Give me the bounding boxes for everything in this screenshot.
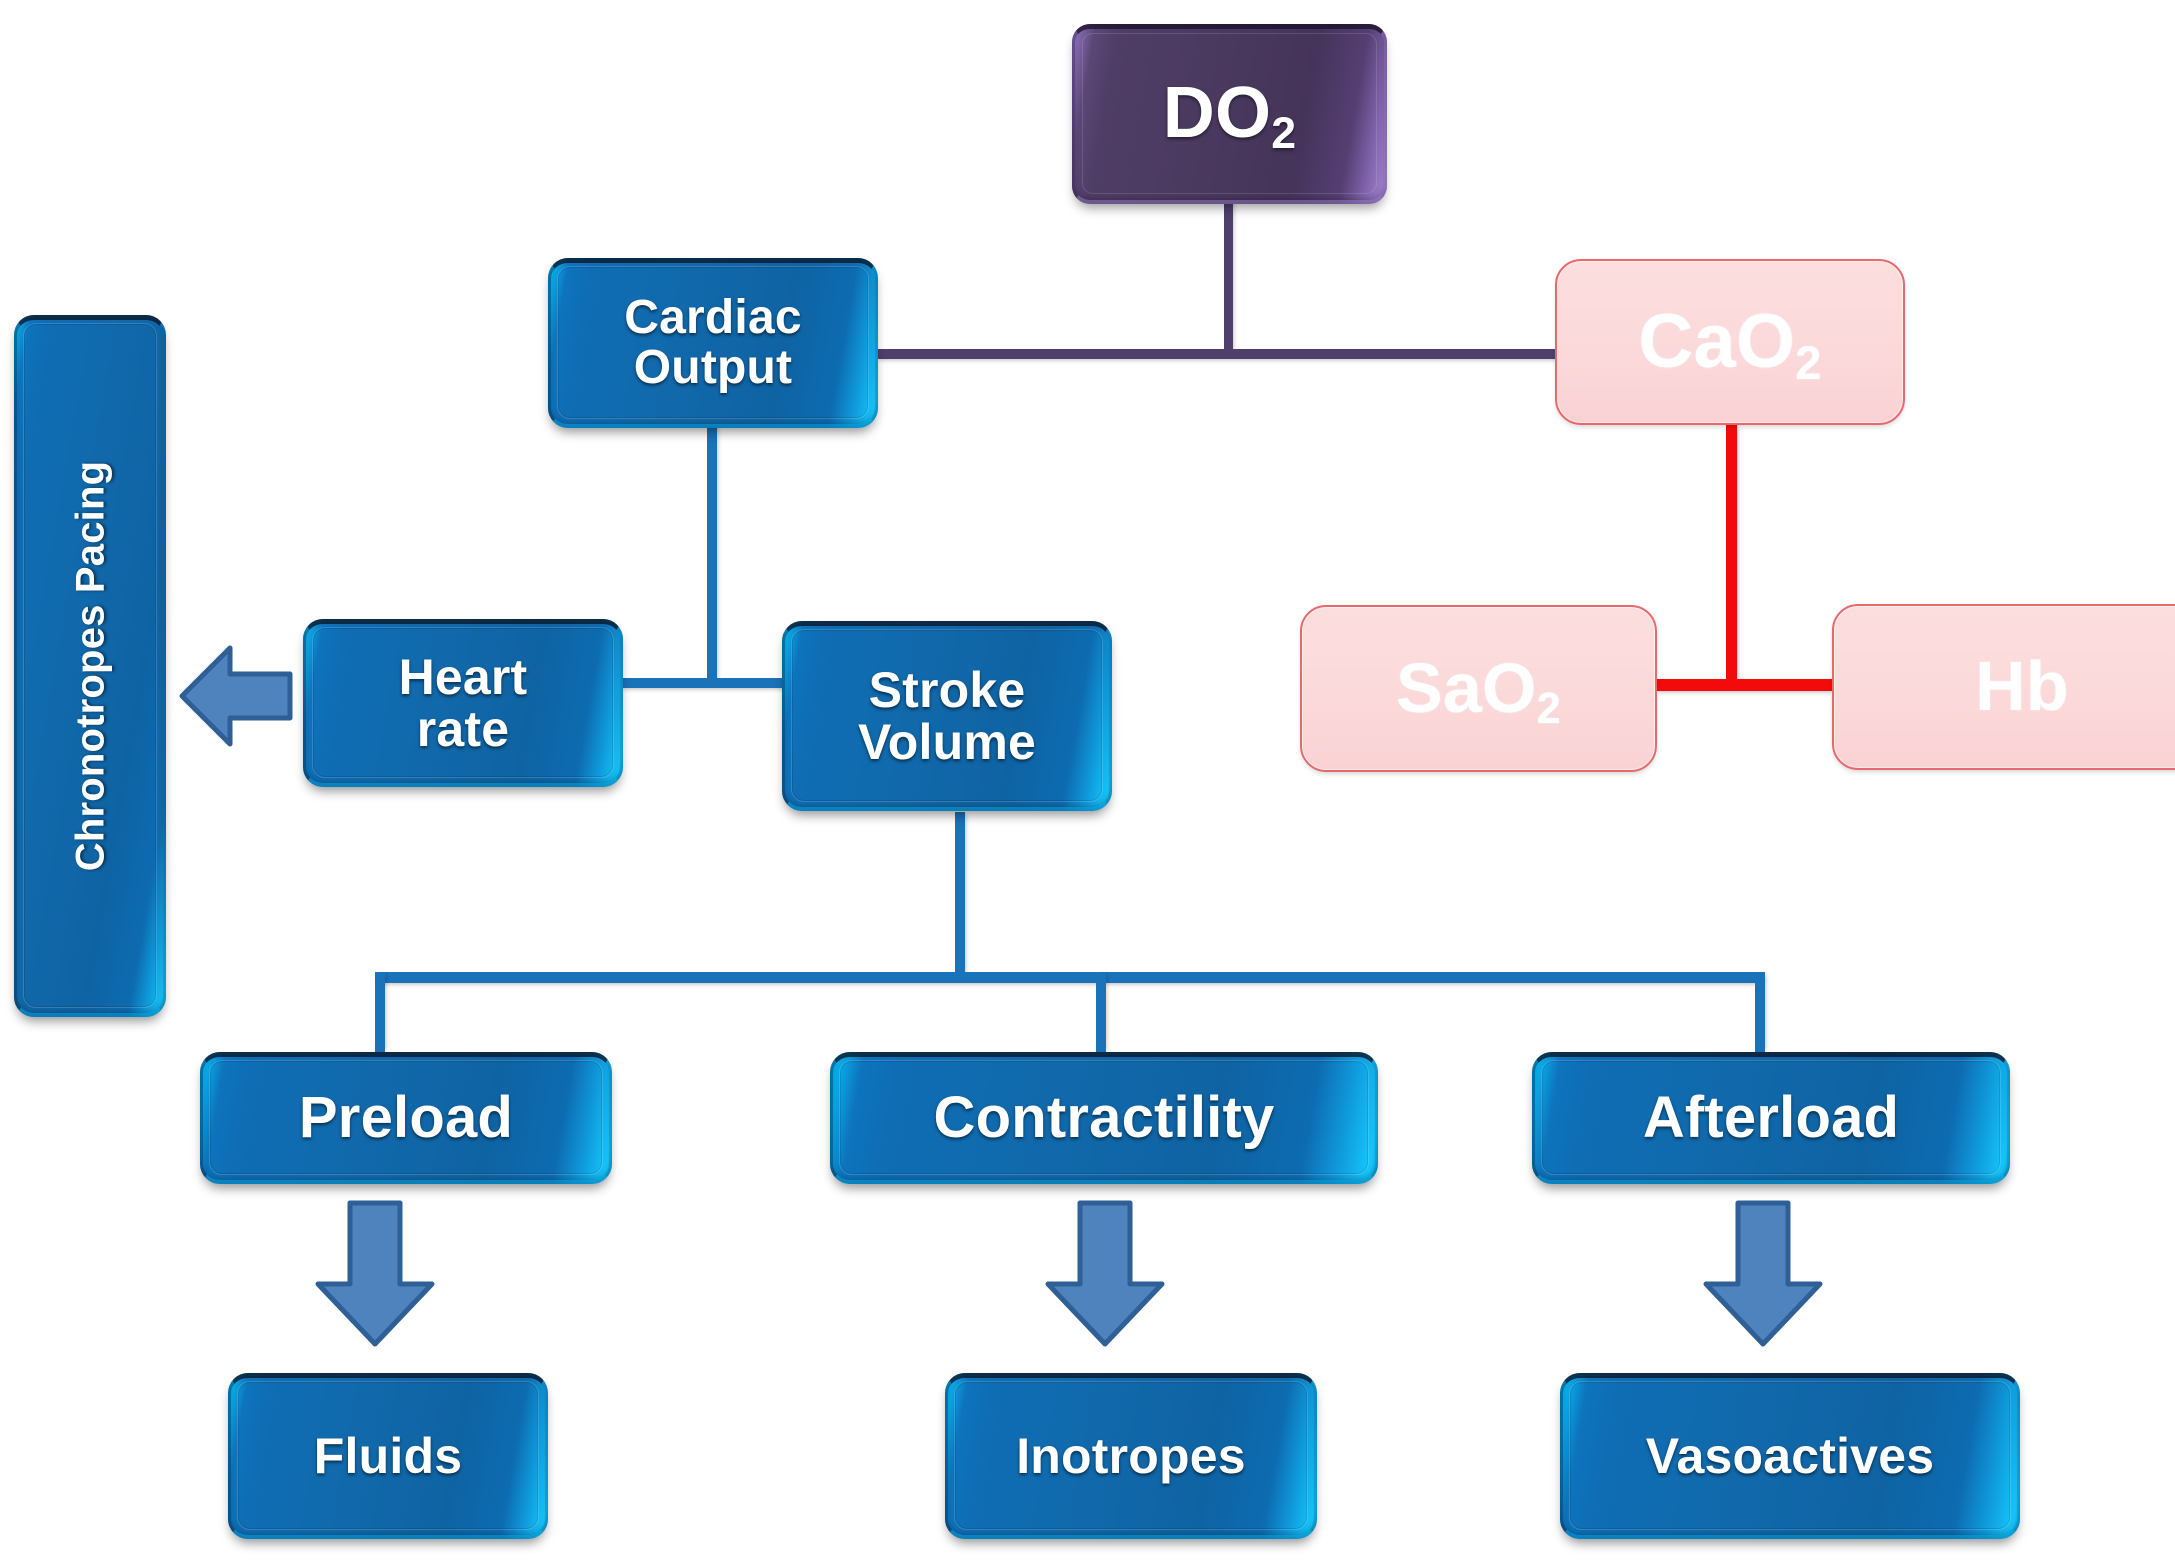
node-sao2[interactable]: SaO2 xyxy=(1300,605,1657,772)
node-chronotropes-pacing[interactable]: Chronotropes Pacing xyxy=(14,315,166,1017)
node-cardiac-output[interactable]: Cardiac Output xyxy=(548,258,878,428)
node-sao2-label: SaO2 xyxy=(1396,652,1561,726)
node-fluids-label: Fluids xyxy=(314,1430,462,1483)
node-cardiac-output-label-line2: Output xyxy=(634,343,792,393)
connector-hr-sv-bus xyxy=(620,678,805,688)
node-hb[interactable]: Hb xyxy=(1832,604,2175,770)
connector-do2-stem xyxy=(1224,196,1233,356)
node-vasoactives-label: Vasoactives xyxy=(1646,1430,1935,1483)
node-stroke-volume[interactable]: Stroke Volume xyxy=(782,621,1112,811)
arrow-contractility-to-inotropes xyxy=(1040,1198,1170,1348)
node-cao2[interactable]: CaO2 xyxy=(1555,259,1905,425)
node-afterload-label: Afterload xyxy=(1643,1088,1899,1149)
connector-cao2-stem xyxy=(1726,425,1737,685)
connector-purple-bus xyxy=(876,349,1566,359)
connector-drop-preload xyxy=(375,972,385,1052)
node-contractility-label: Contractility xyxy=(934,1088,1275,1149)
connector-drop-contractility xyxy=(1096,972,1106,1052)
arrow-preload-to-fluids xyxy=(310,1198,440,1348)
node-cardiac-output-label-line1: Cardiac xyxy=(624,293,802,343)
connector-drop-afterload xyxy=(1755,972,1765,1052)
diagram-canvas: DO2 Cardiac Output CaO2 SaO2 Hb Chronotr… xyxy=(0,0,2175,1566)
node-fluids[interactable]: Fluids xyxy=(228,1373,548,1539)
node-stroke-volume-label-line1: Stroke xyxy=(869,664,1026,717)
node-chronotropes-pacing-label: Chronotropes Pacing xyxy=(69,461,111,872)
connector-sao2-hb-bus xyxy=(1655,679,1835,691)
node-afterload[interactable]: Afterload xyxy=(1532,1052,2010,1184)
node-contractility[interactable]: Contractility xyxy=(830,1052,1378,1184)
node-vasoactives[interactable]: Vasoactives xyxy=(1560,1373,2020,1539)
node-preload[interactable]: Preload xyxy=(200,1052,612,1184)
node-preload-label: Preload xyxy=(299,1088,513,1149)
node-do2[interactable]: DO2 xyxy=(1072,24,1387,204)
node-heart-rate[interactable]: Heart rate xyxy=(303,619,623,787)
node-do2-label: DO2 xyxy=(1163,76,1296,152)
connector-cardiac-output-stem xyxy=(707,424,717,686)
arrow-afterload-to-vasoactives xyxy=(1698,1198,1828,1348)
node-heart-rate-label-line1: Heart xyxy=(399,651,528,704)
connector-stroke-volume-stem xyxy=(955,812,965,980)
node-inotropes[interactable]: Inotropes xyxy=(945,1373,1317,1539)
node-heart-rate-label-line2: rate xyxy=(417,703,510,756)
node-inotropes-label: Inotropes xyxy=(1016,1430,1246,1483)
node-hb-label: Hb xyxy=(1975,650,2069,724)
arrow-heart-rate-to-chronotropes xyxy=(178,636,294,756)
node-stroke-volume-label-line2: Volume xyxy=(858,716,1036,769)
node-cao2-label: CaO2 xyxy=(1638,302,1821,382)
connector-sv-children-bus xyxy=(375,972,1765,983)
